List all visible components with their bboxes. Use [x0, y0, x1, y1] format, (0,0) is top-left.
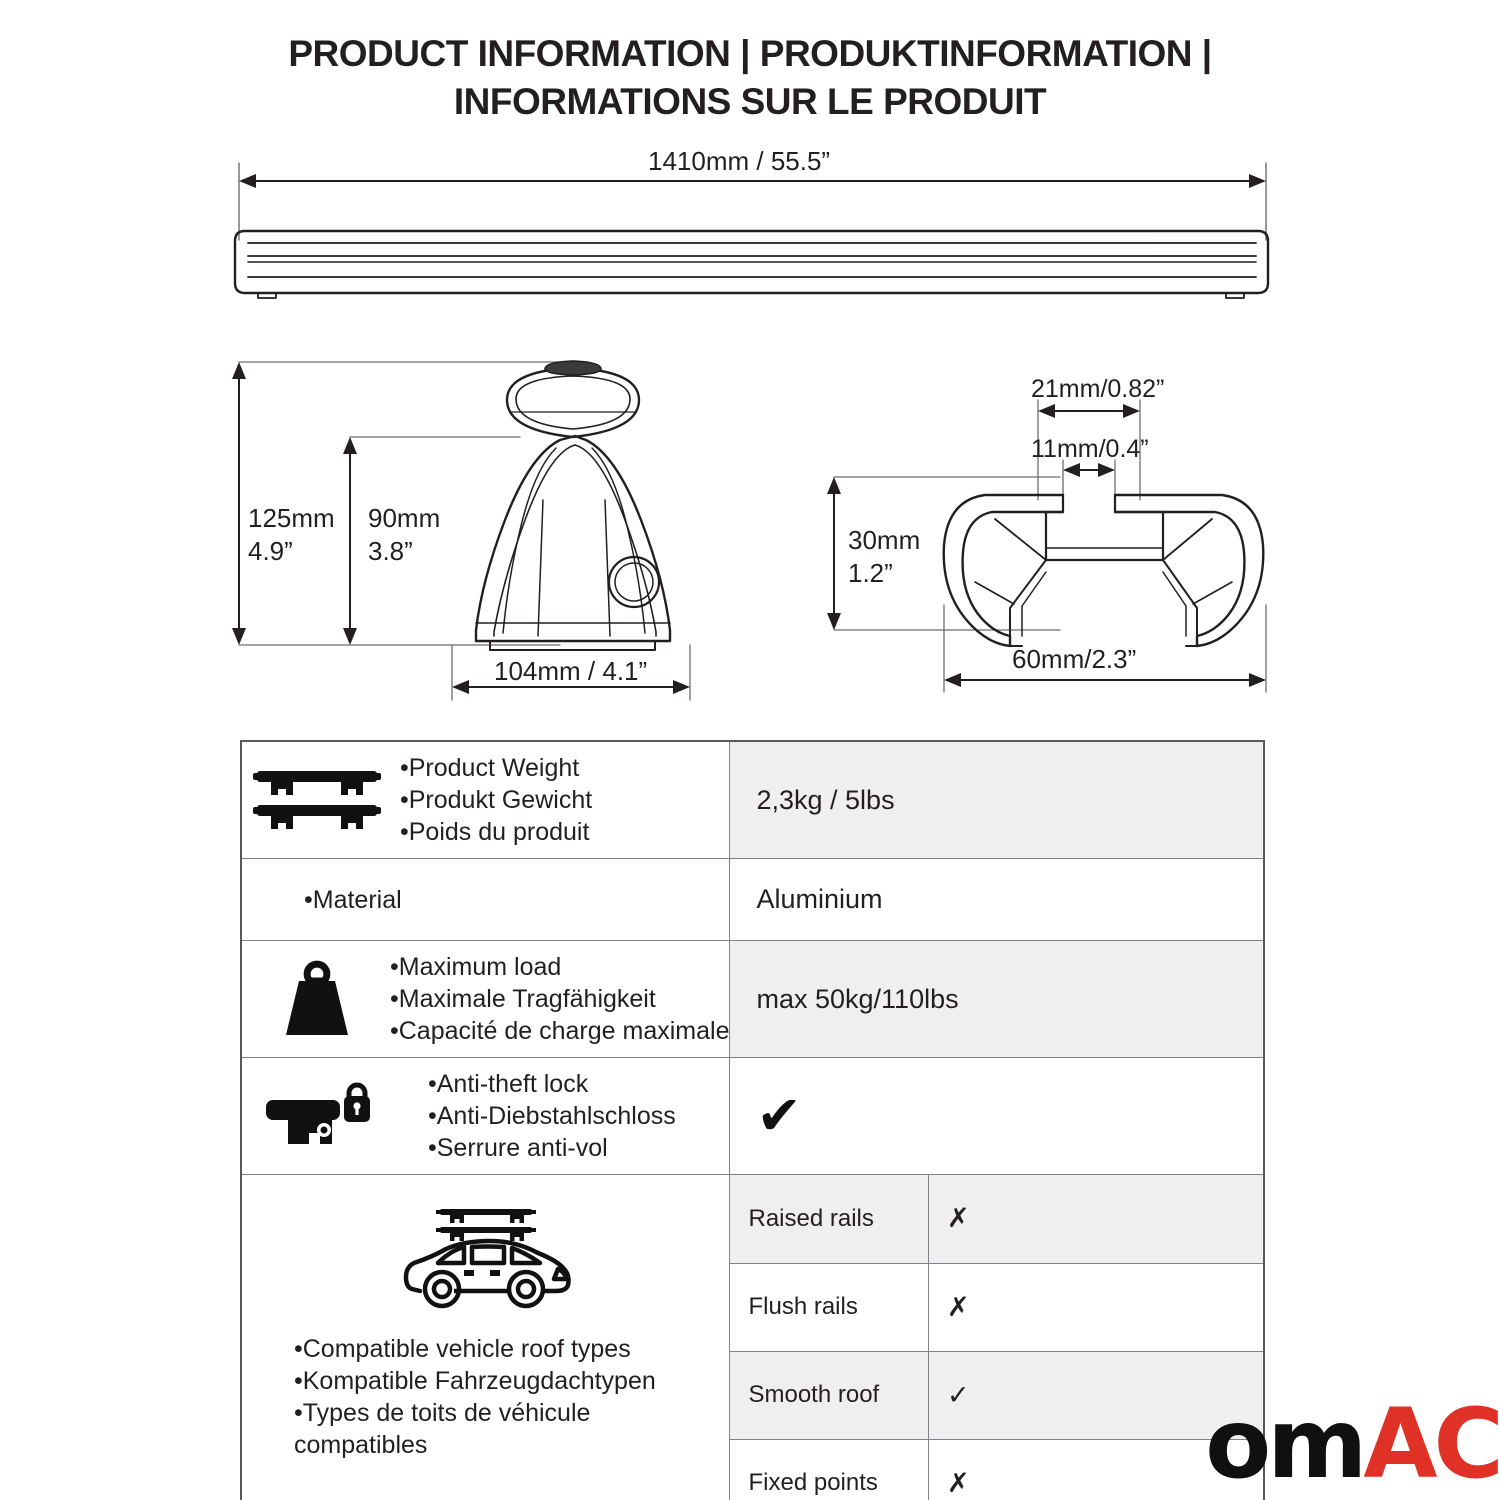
- label-line: •Material: [304, 884, 402, 916]
- weight-icon: [242, 959, 392, 1039]
- label-line: •Anti-theft lock: [428, 1068, 676, 1100]
- lock-icon: [242, 1080, 392, 1152]
- product-information-sheet: PRODUCT INFORMATION | PRODUKTINFORMATION…: [0, 0, 1500, 1500]
- row-value-maxload: max 50kg/110lbs: [730, 941, 1264, 1058]
- title-line-2: INFORMATIONS SUR LE PRODUIT: [0, 78, 1500, 126]
- profile-width-label: 60mm/2.3”: [1012, 643, 1136, 676]
- omac-logo: omAC: [1205, 1396, 1500, 1492]
- checkmark-icon: ✔: [756, 1084, 801, 1147]
- car-with-rack-icon: [242, 1201, 729, 1311]
- specifications-table: •Product Weight •Produkt Gewicht •Poids …: [240, 740, 1265, 1500]
- row-labels-maxload: •Maximum load •Maximale Tragfähigkeit •C…: [390, 951, 729, 1047]
- label-line: •Capacité de charge maximale: [390, 1015, 729, 1047]
- row-label-cell-weight: •Product Weight •Produkt Gewicht •Poids …: [241, 741, 730, 859]
- row-labels-weight: •Product Weight •Produkt Gewicht •Poids …: [400, 752, 592, 848]
- table-row-roof-types: •Compatible vehicle roof types •Kompatib…: [241, 1175, 1264, 1500]
- row-label-cell-roof: •Compatible vehicle roof types •Kompatib…: [241, 1175, 730, 1500]
- row-value-weight: 2,3kg / 5lbs: [730, 741, 1264, 859]
- table-row: •Material Aluminium: [241, 859, 1264, 941]
- row-labels-roof: •Compatible vehicle roof types •Kompatib…: [242, 1333, 642, 1461]
- row-label-cell-material: •Material: [241, 859, 730, 941]
- roof-type-name: Raised rails: [730, 1175, 928, 1263]
- foot-width-label: 104mm / 4.1”: [494, 655, 647, 688]
- label-line: •Kompatible Fahrzeugdachtypen: [294, 1365, 642, 1397]
- crossbars-icon: [242, 767, 392, 833]
- roof-types-table: Raised rails ✗ Flush rails ✗ Smooth roof…: [730, 1175, 1263, 1500]
- roof-type-name: Fixed points: [730, 1439, 928, 1500]
- profile-slot-outer-label: 21mm/0.82”: [1031, 373, 1164, 406]
- table-row: •Maximum load •Maximale Tragfähigkeit •C…: [241, 941, 1264, 1058]
- label-line: •Maximum load: [390, 951, 729, 983]
- row-label-cell-lock: •Anti-theft lock •Anti-Diebstahlschloss …: [241, 1058, 730, 1175]
- label-line: •Anti-Diebstahlschloss: [428, 1100, 676, 1132]
- title-line-1: PRODUCT INFORMATION | PRODUKTINFORMATION…: [288, 33, 1211, 74]
- label-line: •Types de toits de véhicule: [294, 1397, 642, 1429]
- label-line: •Produkt Gewicht: [400, 784, 592, 816]
- label-line: •Compatible vehicle roof types: [294, 1333, 642, 1365]
- table-row: •Product Weight •Produkt Gewicht •Poids …: [241, 741, 1264, 859]
- label-line: •Maximale Tragfähigkeit: [390, 983, 729, 1015]
- row-labels-material: •Material: [304, 884, 402, 916]
- label-line: •Poids du produit: [400, 816, 592, 848]
- roof-type-mark-cross-icon: ✗: [928, 1175, 1263, 1263]
- row-value-material: Aluminium: [730, 859, 1264, 941]
- roof-type-name: Flush rails: [730, 1263, 928, 1351]
- row-labels-lock: •Anti-theft lock •Anti-Diebstahlschloss …: [428, 1068, 676, 1164]
- label-line: •Product Weight: [400, 752, 592, 784]
- roof-type-row: Smooth roof ✓: [730, 1351, 1263, 1439]
- roof-types-subtable-cell: Raised rails ✗ Flush rails ✗ Smooth roof…: [730, 1175, 1264, 1500]
- roof-type-name: Smooth roof: [730, 1351, 928, 1439]
- logo-text-red: AC: [1363, 1388, 1500, 1500]
- table-row: •Anti-theft lock •Anti-Diebstahlschloss …: [241, 1058, 1264, 1175]
- bar-length-label: 1410mm / 55.5”: [648, 145, 830, 178]
- profile-slot-inner-label: 11mm/0.4”: [1031, 433, 1149, 466]
- profile-height-label: 30mm 1.2”: [848, 524, 920, 590]
- label-line: •Serrure anti-vol: [428, 1132, 676, 1164]
- roof-type-mark-cross-icon: ✗: [928, 1263, 1263, 1351]
- label-line: compatibles: [294, 1429, 642, 1461]
- roof-type-row: Flush rails ✗: [730, 1263, 1263, 1351]
- logo-text-black: om: [1205, 1388, 1363, 1500]
- page-title: PRODUCT INFORMATION | PRODUKTINFORMATION…: [0, 30, 1500, 126]
- row-label-cell-maxload: •Maximum load •Maximale Tragfähigkeit •C…: [241, 941, 730, 1058]
- foot-total-height-label: 125mm 4.9”: [248, 502, 335, 568]
- row-value-lock: ✔: [730, 1058, 1264, 1175]
- roof-type-row: Fixed points ✗: [730, 1439, 1263, 1500]
- foot-inner-height-label: 90mm 3.8”: [368, 502, 440, 568]
- roof-type-row: Raised rails ✗: [730, 1175, 1263, 1263]
